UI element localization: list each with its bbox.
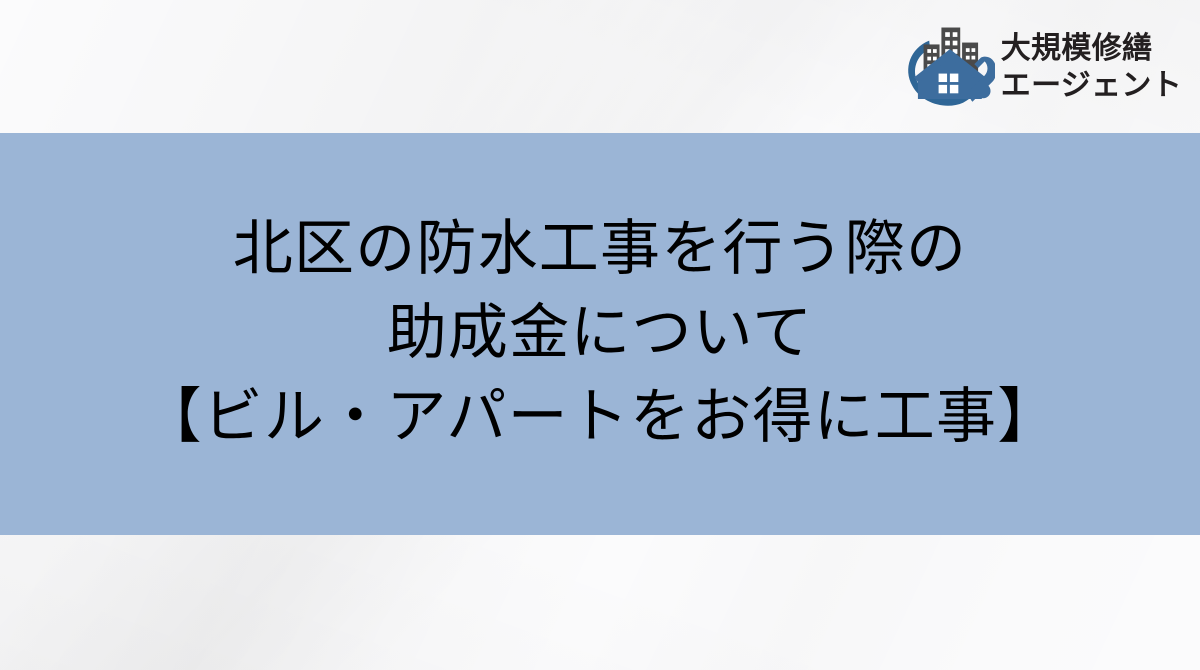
thumbnail-canvas: 北区の防水工事を行う際の 助成金について 【ビル・アパートをお得に工事】 <box>0 0 1200 670</box>
title-line-3: 【ビル・アパートをお得に工事】 <box>142 378 1059 458</box>
title-block: 北区の防水工事を行う際の 助成金について 【ビル・アパートをお得に工事】 <box>0 133 1200 535</box>
title-line-2: 助成金について <box>387 294 814 374</box>
brand-line-2: エージェント <box>1001 71 1182 101</box>
brand-logo: 大規模修繕 エージェント <box>901 20 1182 114</box>
building-house-wrench-logo-icon <box>901 20 995 114</box>
brand-line-1: 大規模修繕 <box>1001 34 1182 64</box>
title-line-1: 北区の防水工事を行う際の <box>233 210 967 290</box>
brand-wordmark: 大規模修繕 エージェント <box>1001 34 1182 101</box>
